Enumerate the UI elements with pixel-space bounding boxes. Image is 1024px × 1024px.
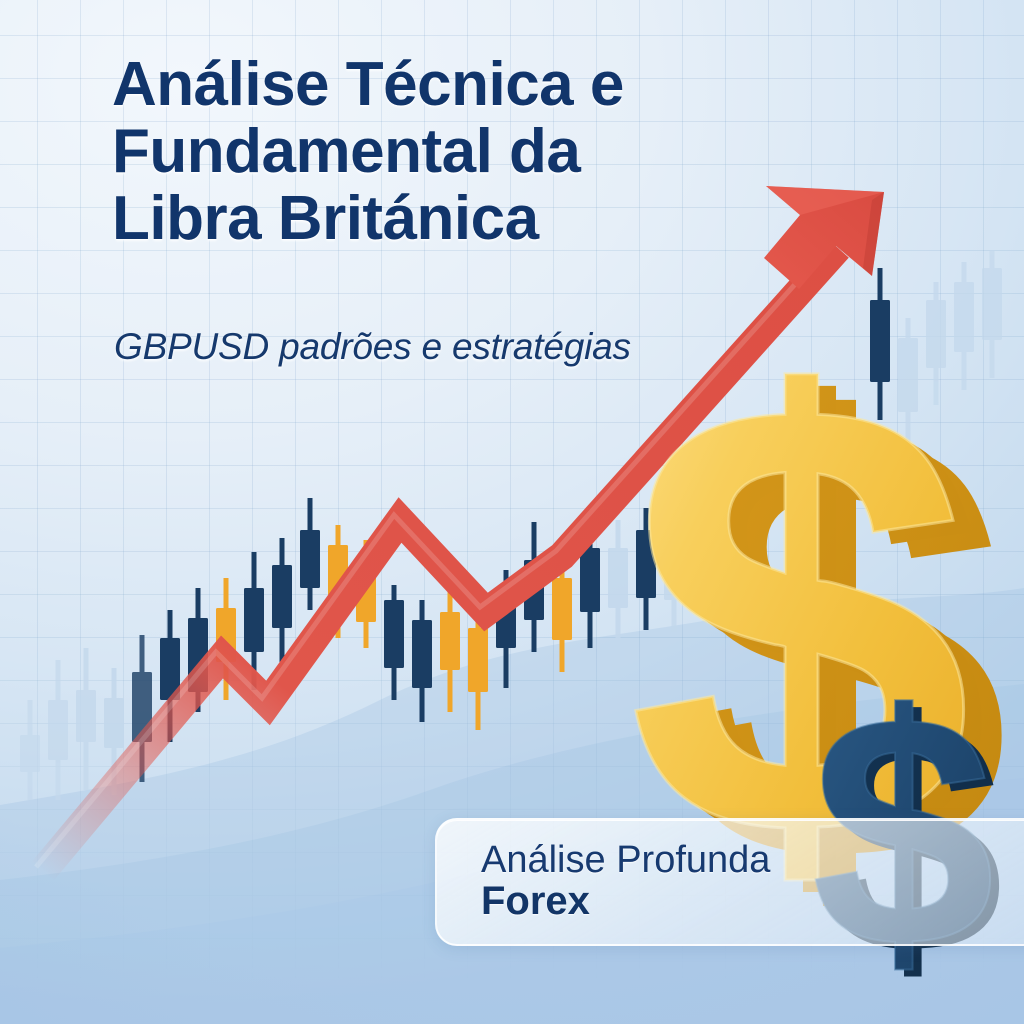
title-line-1: Análise Técnica e: [112, 52, 772, 119]
page-title: Análise Técnica e Fundamental da Libra B…: [112, 52, 772, 253]
status-badge: Análise Profunda Forex: [435, 818, 1024, 946]
page-subtitle: GBPUSD padrões e estratégias: [114, 326, 631, 368]
poster-canvas: $ $ $ $ $ Análise Técnica e Fundamental …: [0, 0, 1024, 1024]
badge-line-2: Forex: [481, 880, 1024, 923]
badge-line-1: Análise Profunda: [481, 840, 1024, 880]
title-line-2: Fundamental da: [112, 119, 772, 186]
title-line-3: Libra Británica: [112, 186, 772, 253]
